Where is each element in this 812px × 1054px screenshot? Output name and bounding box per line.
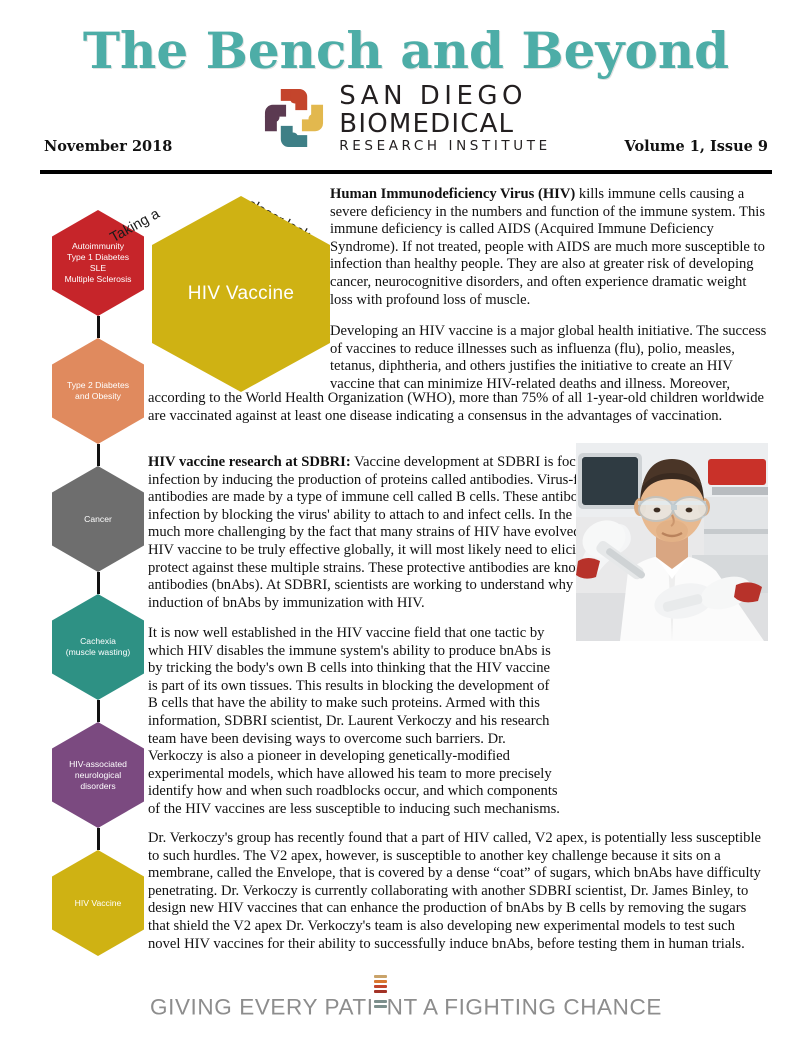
logo-line-2: BIOMEDICAL xyxy=(339,111,550,137)
chain-connector xyxy=(97,316,100,338)
paragraph-3-lead: HIV vaccine research at SDBRI: xyxy=(148,454,351,470)
hex-type-2-diabetes[interactable]: Type 2 Diabetesand Obesity xyxy=(52,338,144,444)
hex-label: HIV Vaccine xyxy=(72,898,125,909)
hex-label: Type 2 Diabetesand Obesity xyxy=(64,380,132,402)
hex-label: AutoimmunityType 1 DiabetesSLEMultiple S… xyxy=(62,241,135,285)
hex-hiv-vaccine[interactable]: HIV Vaccine xyxy=(52,850,144,956)
lab-scientist-photo xyxy=(576,443,768,641)
paragraph-2-continued-wrap: according to the World Health Organizati… xyxy=(148,390,768,425)
decorative-e-icon xyxy=(374,992,387,1015)
hex-cancer[interactable]: Cancer xyxy=(52,466,144,572)
footer-tagline: GIVING EVERY PATINT A FIGHTING CHANCE xyxy=(150,992,662,1021)
hex-cachexia[interactable]: Cachexia(muscle wasting) xyxy=(52,594,144,700)
issue-line: November 2018 Volume 1, Issue 9 xyxy=(44,138,768,155)
header-divider xyxy=(40,170,772,174)
hex-label: Cachexia(muscle wasting) xyxy=(63,636,133,658)
paragraph-2-tail: according to the World Health Organizati… xyxy=(148,390,768,425)
paragraph-1: Human Immunodeficiency Virus (HIV) kills… xyxy=(330,186,768,309)
featured-topic: Taking a closer look HIV Vaccine xyxy=(152,182,330,392)
hex-label: Cancer xyxy=(81,514,115,525)
page-title: The Bench and Beyond xyxy=(44,0,768,76)
research-focus-chain: AutoimmunityType 1 DiabetesSLEMultiple S… xyxy=(52,210,144,956)
newsletter-page: The Bench and Beyond SAN DIEGO BIOMEDICA… xyxy=(0,0,812,1054)
paragraph-1-lead: Human Immunodeficiency Virus (HIV) xyxy=(330,186,575,202)
chain-node-5: HIV Vaccine xyxy=(52,850,144,956)
chain-node-1: Type 2 Diabetesand Obesity xyxy=(52,338,144,444)
issue-date: November 2018 xyxy=(44,138,172,155)
chain-connector xyxy=(97,444,100,466)
issue-number: Volume 1, Issue 9 xyxy=(625,138,768,155)
paragraph-1-rest: kills immune cells causing a severe defi… xyxy=(330,186,765,308)
chain-connector xyxy=(97,700,100,722)
verkoczy-section: It is now well established in the HIV va… xyxy=(148,625,768,825)
feature-hex-label: HIV Vaccine xyxy=(188,283,294,305)
chain-connector xyxy=(97,572,100,594)
chain-node-4: HIV-associatedneurologicaldisorders xyxy=(52,722,144,828)
chain-node-2: Cancer xyxy=(52,466,144,572)
v2-apex-section: Dr. Verkoczy's group has recently found … xyxy=(148,830,768,953)
photo-text-spacer xyxy=(562,625,768,825)
footer: GIVING EVERY PATINT A FIGHTING CHANCE xyxy=(0,992,812,1021)
intro-column: Human Immunodeficiency Virus (HIV) kills… xyxy=(330,186,768,394)
tagline-after: NT A FIGHTING CHANCE xyxy=(387,995,662,1020)
logo-line-1: SAN DIEGO xyxy=(339,83,550,109)
hex-label: HIV-associatedneurologicaldisorders xyxy=(66,759,130,792)
chain-connector xyxy=(97,828,100,850)
chain-node-3: Cachexia(muscle wasting) xyxy=(52,594,144,700)
paragraph-2-top: Developing an HIV vaccine is a major glo… xyxy=(330,323,768,393)
hex-hiv-neuro-disorders[interactable]: HIV-associatedneurologicaldisorders xyxy=(52,722,144,828)
paragraph-5: Dr. Verkoczy's group has recently found … xyxy=(148,830,768,953)
tagline-before: GIVING EVERY PATI xyxy=(150,995,374,1020)
